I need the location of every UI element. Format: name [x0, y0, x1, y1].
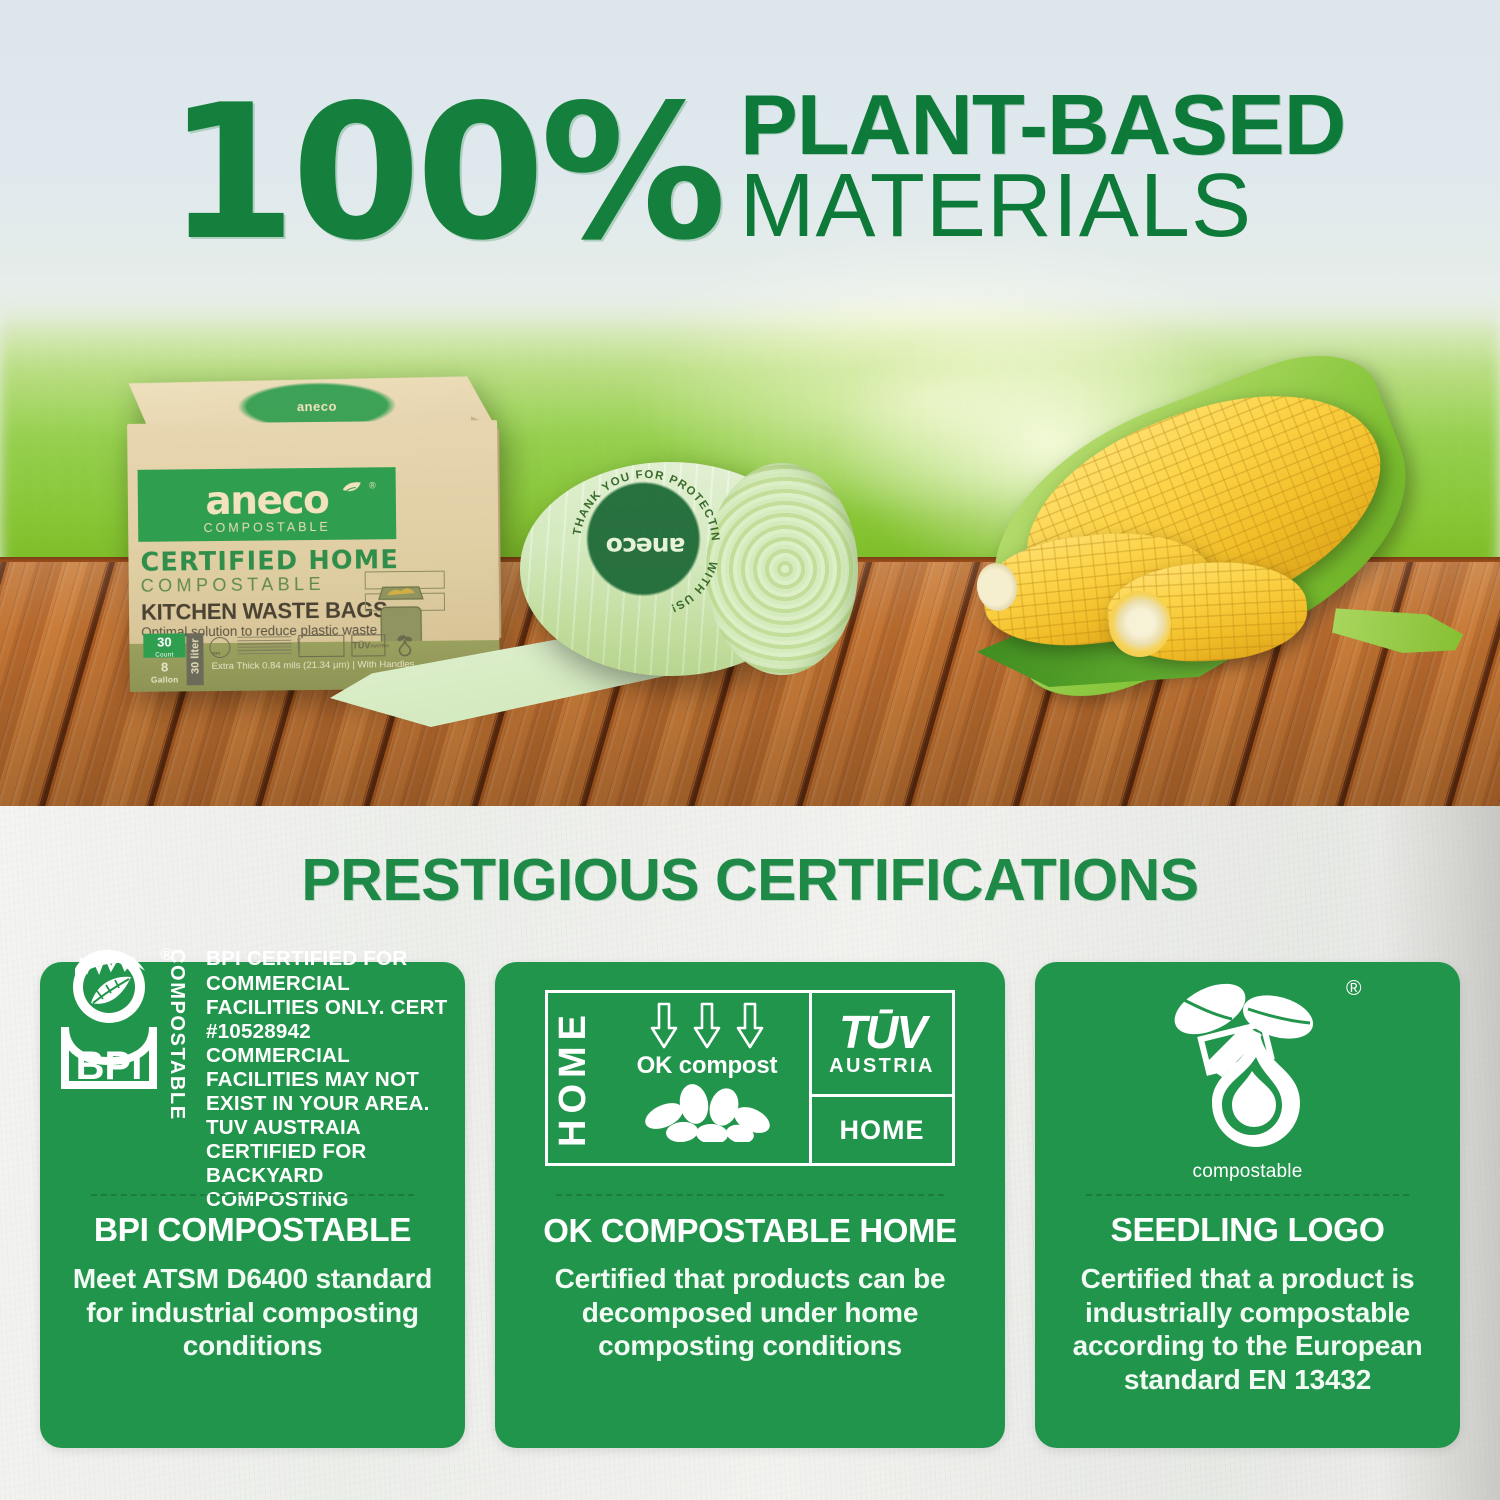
headline: 100% PLANT-BASED MATERIALS [0, 86, 1500, 259]
headline-line-1: PLANT-BASED [740, 86, 1345, 167]
box-certification-badges: TÜVAUSTRIA [209, 631, 419, 661]
mini-tuv-icon: TÜVAUSTRIA [351, 634, 385, 656]
headline-percent: 100% [167, 87, 722, 258]
box-liter-badge: 30 liter [186, 633, 204, 685]
ok-compost-home-logo: HOME [545, 990, 955, 1166]
ok-compost-home-vertical-label: HOME [548, 993, 605, 1163]
mini-spec-text-block [237, 636, 291, 657]
card-divider [1086, 1194, 1409, 1196]
compost-flower-icon [632, 1082, 782, 1142]
card-divider [91, 1194, 414, 1196]
card-title-ok-compost: OK COMPOSTABLE HOME [543, 1212, 956, 1250]
bag-roll-end-spiral [706, 463, 858, 675]
corn-cob-front-cut-face [1109, 591, 1171, 657]
box-liter-value: 30 liter [189, 629, 202, 683]
card-title-bpi: BPI COMPOSTABLE [94, 1212, 411, 1250]
product-box: aneco ® COMPOSTABLE CERTIFIED HOME COMPO… [127, 376, 502, 648]
headline-text-block: PLANT-BASED MATERIALS [740, 86, 1333, 253]
corn-husk-tip [1331, 600, 1466, 662]
aneco-logo-subtitle: COMPOSTABLE [138, 519, 396, 536]
bpi-registered-mark: ® [160, 945, 173, 965]
mini-bpi-icon [209, 636, 230, 657]
ring-text-left-path: THANK YOU FOR PROTECTING [564, 462, 722, 542]
bpi-badge-area: BPI ® COMPOSTABLE BPI CERTIFIED FOR COMM… [40, 962, 465, 1194]
down-arrow-icon [735, 1002, 765, 1050]
certification-cards: BPI ® COMPOSTABLE BPI CERTIFIED FOR COMM… [40, 962, 1460, 1448]
ring-text-right: WITH US! [668, 559, 720, 615]
card-ok-compostable-home[interactable]: HOME [495, 962, 1005, 1448]
box-gallon-badge: 8 Gallon [144, 659, 186, 685]
ring-text-left: THANK YOU FOR PROTECTING [564, 462, 722, 542]
bpi-vertical-label: COMPOSTABLE [165, 949, 188, 1099]
mini-seedling-icon [392, 633, 416, 657]
leaf-icon [342, 481, 362, 495]
card-body-seedling: Certified that a product is industrially… [1035, 1262, 1460, 1396]
card-body-ok-compost: Certified that products can be decompose… [495, 1262, 1005, 1363]
box-count-badge: 30 Count [143, 633, 185, 657]
corn-cobs-image [955, 395, 1475, 705]
seedling-mark-icon: ® [1148, 973, 1348, 1163]
bpi-certification-text: BPI CERTIFIED FOR COMMERCIAL FACILITIES … [206, 947, 456, 1212]
box-count-value: 30 [157, 634, 172, 649]
card-bpi-compostable[interactable]: BPI ® COMPOSTABLE BPI CERTIFIED FOR COMM… [40, 962, 465, 1448]
svg-text:BPI: BPI [76, 1044, 143, 1088]
ok-compost-right-panel: TŪV AUSTRIA HOME [812, 993, 952, 1163]
section-title: PRESTIGIOUS CERTIFICATIONS [0, 846, 1500, 914]
tuv-home-label: HOME [840, 1115, 925, 1146]
down-arrow-icon [649, 1002, 679, 1050]
box-gallon-value: 8 [161, 660, 168, 675]
tuv-austria-label: AUSTRIA [829, 1055, 935, 1078]
hero-section: 100% PLANT-BASED MATERIALS aneco [0, 0, 1500, 806]
box-gallon-label: Gallon [144, 673, 186, 685]
tuv-austria-block: TŪV AUSTRIA [812, 993, 952, 1097]
seedling-registered-mark: ® [1346, 977, 1361, 1001]
ring-text-right-path: WITH US! [668, 559, 720, 615]
bpi-mark-icon: BPI ® [57, 943, 161, 1095]
box-front-face: aneco ® COMPOSTABLE CERTIFIED HOME COMPO… [127, 420, 499, 648]
bag-roll: aneco THANK YOU FOR PROTECTING WITH US! [520, 462, 900, 792]
infographic-page: 100% PLANT-BASED MATERIALS aneco [0, 0, 1500, 1500]
ok-compost-label: OK compost [637, 1052, 778, 1080]
card-seedling-logo[interactable]: ® compostable SEEDLING LOGO Certified th… [1035, 962, 1460, 1448]
box-title-line-2: COMPOSTABLE [141, 573, 397, 597]
mini-ok-compost-home-icon [298, 635, 344, 657]
card-title-seedling: SEEDLING LOGO [1111, 1212, 1385, 1250]
box-brand-band: aneco ® COMPOSTABLE [138, 467, 397, 542]
card-divider [556, 1194, 944, 1196]
headline-line-2: MATERIALS [740, 161, 1252, 253]
card-body-bpi: Meet ATSM D6400 standard for industrial … [40, 1262, 465, 1363]
tuv-logo-text: TŪV [839, 1010, 925, 1054]
ok-compost-badge-area: HOME [495, 962, 1005, 1194]
down-arrow-icon [692, 1002, 722, 1050]
registered-mark: ® [369, 480, 376, 490]
down-arrows-group [649, 1002, 765, 1050]
bpi-logo: BPI ® COMPOSTABLE BPI CERTIFIED FOR COMM… [49, 943, 456, 1212]
ok-compost-center: OK compost [605, 993, 809, 1163]
seedling-badge-area: ® compostable [1035, 962, 1460, 1194]
bag-roll-ring-text: THANK YOU FOR PROTECTING WITH US! [564, 462, 728, 626]
ok-compost-left-panel: HOME [548, 993, 812, 1163]
tuv-home-block: HOME [812, 1097, 952, 1163]
seedling-logo: ® compostable [1148, 973, 1348, 1183]
headline-row: 100% PLANT-BASED MATERIALS [0, 86, 1500, 259]
box-product-name: KITCHEN WASTE BAGS [141, 597, 388, 626]
box-spec-text: Extra Thick 0.84 mils (21.34 µm) | With … [212, 659, 415, 672]
seedling-label: compostable [1193, 1161, 1303, 1183]
